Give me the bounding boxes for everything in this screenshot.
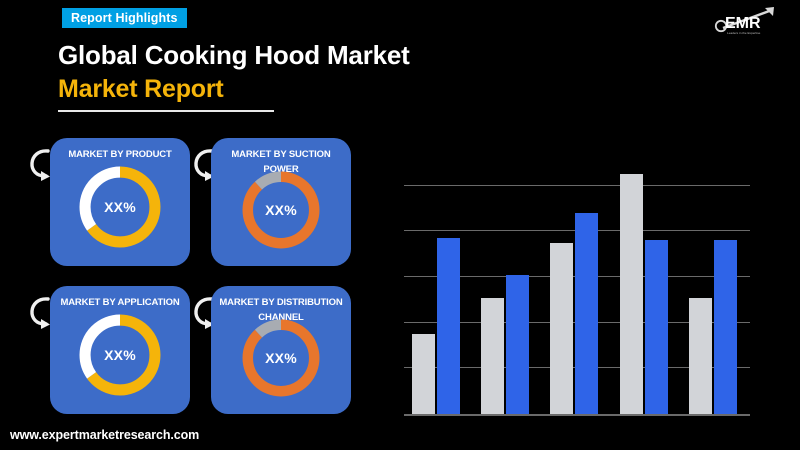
chart-axis — [404, 414, 750, 416]
card-market-by-distribution-channel[interactable]: MARKET BY DISTRIBUTION CHANNEL XX% — [211, 286, 351, 414]
chart-bar — [645, 240, 668, 414]
badge-label: Report Highlights — [71, 11, 178, 25]
bar-chart — [404, 138, 750, 416]
logo-text: EMR — [725, 15, 761, 32]
chart-bar — [620, 174, 643, 414]
chart-bar — [412, 334, 435, 414]
chart-bar — [481, 298, 504, 414]
donut-segment-primary — [248, 325, 314, 391]
donut-chart: XX% — [79, 166, 161, 248]
donut-graphic — [79, 314, 161, 396]
card-market-by-suction-power[interactable]: MARKET BY SUCTION POWER XX% — [211, 138, 351, 266]
logo-tagline: Leaders in the Expertise — [727, 31, 761, 35]
donut-graphic — [242, 171, 320, 249]
chart-bar — [689, 298, 712, 414]
chart-bar — [506, 275, 529, 414]
card-market-by-application[interactable]: MARKET BY APPLICATION XX% — [50, 286, 190, 414]
donut-segment-primary — [248, 177, 314, 243]
card-title: MARKET BY PRODUCT — [54, 147, 186, 162]
donut-chart: XX% — [242, 171, 320, 249]
page-subtitle: Market Report — [58, 75, 224, 104]
card-market-by-product[interactable]: MARKET BY PRODUCT XX% — [50, 138, 190, 266]
chart-bar — [575, 213, 598, 414]
slide-canvas: Report Highlights Global Cooking Hood Ma… — [0, 0, 800, 450]
page-title: Global Cooking Hood Market — [58, 40, 410, 71]
chart-bar — [714, 240, 737, 414]
chart-gridline — [404, 185, 750, 186]
emr-logo-graphic: EMR Leaders in the Expertise — [714, 6, 788, 38]
report-highlights-badge: Report Highlights — [62, 8, 187, 28]
card-title: MARKET BY APPLICATION — [54, 295, 186, 310]
emr-logo: EMR Leaders in the Expertise — [714, 6, 788, 38]
donut-graphic — [242, 319, 320, 397]
donut-graphic — [79, 166, 161, 248]
donut-chart: XX% — [242, 319, 320, 397]
chart-bar — [550, 243, 573, 414]
footer-url: www.expertmarketresearch.com — [10, 428, 199, 442]
donut-chart: XX% — [79, 314, 161, 396]
title-divider — [58, 110, 274, 112]
chart-bar — [437, 238, 460, 414]
